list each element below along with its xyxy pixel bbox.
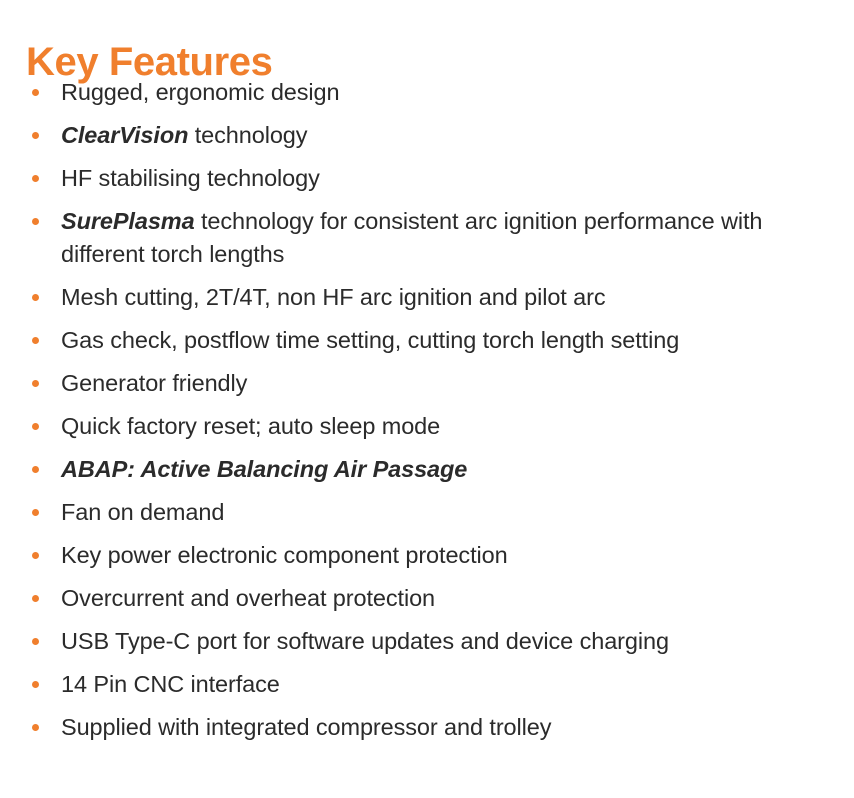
bullet-dot-icon xyxy=(32,638,39,645)
key-features-slide: Key Features Rugged, ergonomic designCle… xyxy=(0,0,854,798)
bullet-dot-icon xyxy=(32,132,39,139)
feature-body: Mesh cutting, 2T/4T, non HF arc ignition… xyxy=(61,284,606,310)
feature-text: 14 Pin CNC interface xyxy=(61,668,838,701)
feature-body: Generator friendly xyxy=(61,370,247,396)
bullet-dot-icon xyxy=(32,337,39,344)
feature-body: Supplied with integrated compressor and … xyxy=(61,714,551,740)
feature-list-item: Fan on demand xyxy=(26,496,838,529)
feature-text: Rugged, ergonomic design xyxy=(61,76,838,109)
feature-body: 14 Pin CNC interface xyxy=(61,671,280,697)
bullet-dot-icon xyxy=(32,509,39,516)
bullet-dot-icon xyxy=(32,724,39,731)
feature-body: Key power electronic component protectio… xyxy=(61,542,508,568)
feature-list-item: Gas check, postflow time setting, cuttin… xyxy=(26,324,838,357)
feature-list-item: Quick factory reset; auto sleep mode xyxy=(26,410,838,443)
feature-text: Mesh cutting, 2T/4T, non HF arc ignition… xyxy=(61,281,838,314)
feature-list-item: Generator friendly xyxy=(26,367,838,400)
feature-text: Supplied with integrated compressor and … xyxy=(61,711,838,744)
feature-text: ClearVision technology xyxy=(61,119,838,152)
feature-list-item: ClearVision technology xyxy=(26,119,838,152)
feature-list-item: Supplied with integrated compressor and … xyxy=(26,711,838,744)
bullet-dot-icon xyxy=(32,89,39,96)
bullet-dot-icon xyxy=(32,175,39,182)
bullet-dot-icon xyxy=(32,380,39,387)
bullet-dot-icon xyxy=(32,681,39,688)
feature-list-item: Key power electronic component protectio… xyxy=(26,539,838,572)
feature-body: technology xyxy=(188,122,307,148)
feature-text: Gas check, postflow time setting, cuttin… xyxy=(61,324,838,357)
feature-text: Generator friendly xyxy=(61,367,838,400)
feature-list-item: Mesh cutting, 2T/4T, non HF arc ignition… xyxy=(26,281,838,314)
feature-list-item: 14 Pin CNC interface xyxy=(26,668,838,701)
feature-text: HF stabilising technology xyxy=(61,162,838,195)
feature-text: Quick factory reset; auto sleep mode xyxy=(61,410,838,443)
feature-list-item: HF stabilising technology xyxy=(26,162,838,195)
feature-text: SurePlasma technology for consistent arc… xyxy=(61,205,838,271)
feature-body: Quick factory reset; auto sleep mode xyxy=(61,413,440,439)
feature-list-item: Overcurrent and overheat protection xyxy=(26,582,838,615)
bullet-dot-icon xyxy=(32,294,39,301)
feature-text: ABAP: Active Balancing Air Passage xyxy=(61,453,838,486)
feature-emphasis: SurePlasma xyxy=(61,208,195,234)
bullet-dot-icon xyxy=(32,218,39,225)
feature-body: ABAP: Active Balancing Air Passage xyxy=(61,456,467,482)
feature-text: Key power electronic component protectio… xyxy=(61,539,838,572)
feature-body: Overcurrent and overheat protection xyxy=(61,585,435,611)
bullet-dot-icon xyxy=(32,552,39,559)
feature-body: Rugged, ergonomic design xyxy=(61,79,339,105)
feature-list: Rugged, ergonomic designClearVision tech… xyxy=(26,76,838,754)
feature-list-item: Rugged, ergonomic design xyxy=(26,76,838,109)
feature-list-item: USB Type-C port for software updates and… xyxy=(26,625,838,658)
feature-body: HF stabilising technology xyxy=(61,165,320,191)
feature-list-item: SurePlasma technology for consistent arc… xyxy=(26,205,838,271)
feature-body: Gas check, postflow time setting, cuttin… xyxy=(61,327,679,353)
feature-list-item: ABAP: Active Balancing Air Passage xyxy=(26,453,838,486)
feature-text: Fan on demand xyxy=(61,496,838,529)
feature-text: Overcurrent and overheat protection xyxy=(61,582,838,615)
bullet-dot-icon xyxy=(32,595,39,602)
feature-body: USB Type-C port for software updates and… xyxy=(61,628,669,654)
feature-text: USB Type-C port for software updates and… xyxy=(61,625,838,658)
feature-emphasis: ClearVision xyxy=(61,122,188,148)
bullet-dot-icon xyxy=(32,423,39,430)
bullet-dot-icon xyxy=(32,466,39,473)
feature-body: Fan on demand xyxy=(61,499,224,525)
